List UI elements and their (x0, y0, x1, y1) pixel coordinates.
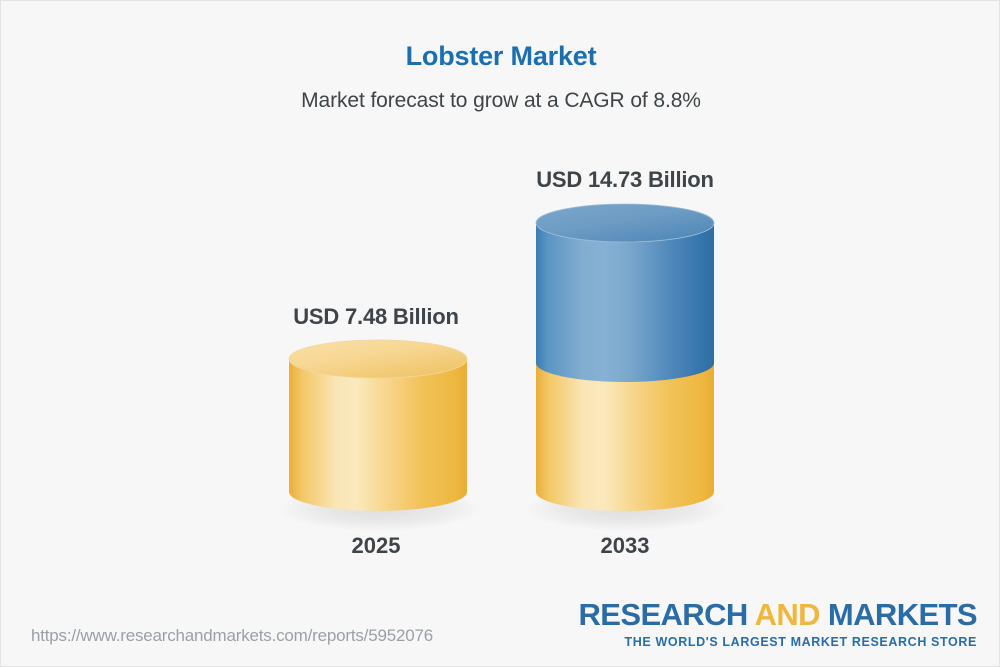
cylinder-2033 (534, 201, 716, 527)
chart-plot-area: USD 7.48 Billion (1, 1, 1000, 601)
logo-word-and: AND (755, 597, 820, 632)
bar-group-2033: USD 14.73 Billion (1, 1, 1000, 601)
category-label-2033: 2033 (475, 533, 775, 559)
logo-tagline: THE WORLD'S LARGEST MARKET RESEARCH STOR… (579, 636, 978, 649)
logo-word-markets: MARKETS (820, 597, 977, 632)
logo-word-research: RESEARCH (579, 597, 755, 632)
chart-card: Lobster Market Market forecast to grow a… (0, 0, 1000, 667)
logo-wordmark: RESEARCH AND MARKETS (579, 599, 978, 630)
source-url[interactable]: https://www.researchandmarkets.com/repor… (31, 626, 433, 646)
research-and-markets-logo[interactable]: RESEARCH AND MARKETS THE WORLD'S LARGEST… (579, 599, 978, 649)
value-label-2033: USD 14.73 Billion (475, 167, 775, 193)
